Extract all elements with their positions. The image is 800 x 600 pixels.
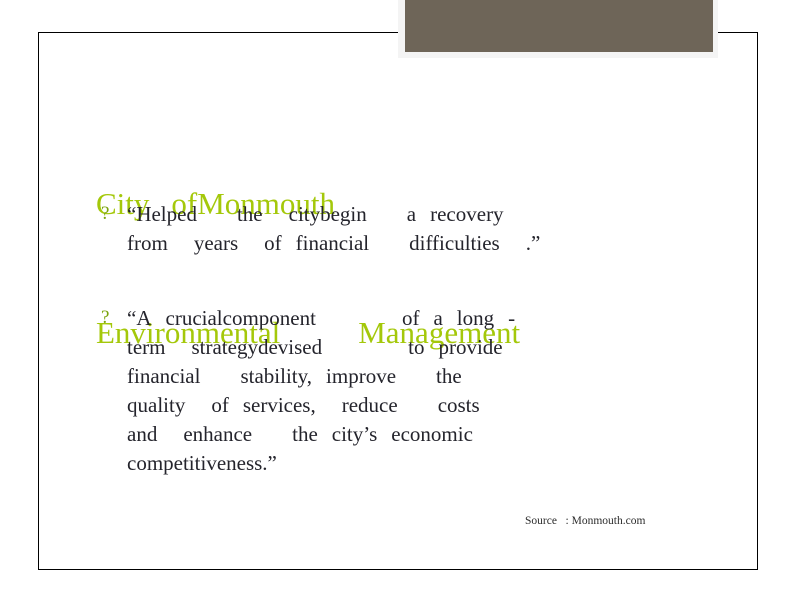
bullet-line: “Acrucialcomponentofalong- [127,304,642,333]
top-decorative-block-fill [405,0,713,52]
word: .” [526,231,541,255]
bullet-marker-icon: ? [101,200,109,228]
word: a [433,306,442,330]
word: difficulties [409,231,500,255]
word: competitiveness.” [127,451,277,475]
word: provide [438,335,502,359]
bullet-line: “Helpedthecitybeginarecovery [127,200,642,229]
bullet-item: ? “Acrucialcomponentofalong- termstrateg… [101,304,642,478]
bullet-item: ? “Helpedthecitybeginarecovery fromyears… [101,200,642,258]
word: from [127,231,168,255]
word: financial [296,231,369,255]
word: the [436,364,462,388]
word: and [127,422,157,446]
bullet-text: “Helpedthecitybeginarecovery fromyearsof… [127,200,642,258]
word: “Helped [127,202,197,226]
word: long [457,306,494,330]
word: citybegin [289,202,367,226]
bullet-line: termstrategydevisedtoprovide [127,333,642,362]
bullet-line: andenhancethecity’seconomic [127,420,642,449]
presentation-slide: CityofMonmouth EnvironmentalManagement ?… [0,0,800,600]
word: years [194,231,238,255]
bullet-line: financialstability,improvethe [127,362,642,391]
word: stability, [240,364,312,388]
word: of [402,306,420,330]
word: of [264,231,282,255]
word: - [508,306,515,330]
bullet-line: qualityofservices,reducecosts [127,391,642,420]
word: “A [127,306,152,330]
word: reduce [342,393,398,417]
word: strategydevised [191,335,322,359]
word: term [127,335,165,359]
word: services, [243,393,316,417]
word: economic [391,422,473,446]
top-decorative-block [398,0,718,58]
bullet-marker-icon: ? [101,304,109,332]
word: costs [438,393,480,417]
word: a [407,202,416,226]
word: quality [127,393,185,417]
word: improve [326,364,396,388]
word: financial [127,364,200,388]
word: enhance [183,422,252,446]
word: the [292,422,318,446]
word: of [211,393,229,417]
bullet-line: competitiveness.” [127,449,642,478]
word: to [408,335,424,359]
word: recovery [430,202,503,226]
source-attribution: Source : Monmouth.com [525,513,645,529]
word: the [237,202,263,226]
bullet-text: “Acrucialcomponentofalong- termstrategyd… [127,304,642,478]
word: crucialcomponent [166,306,316,330]
bullet-line: fromyearsoffinancialdifficulties.” [127,229,642,258]
word: city’s [332,422,378,446]
